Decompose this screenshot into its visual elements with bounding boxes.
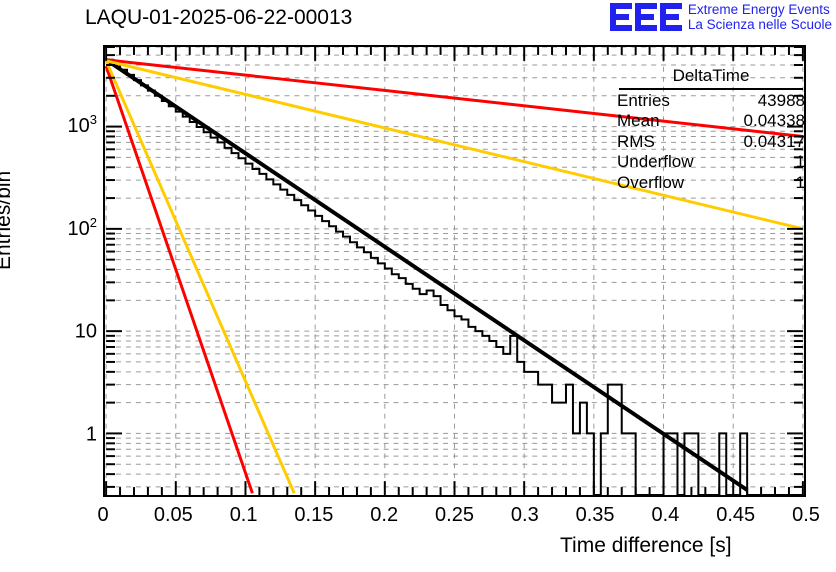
x-axis-title: Time difference [s] <box>560 534 732 558</box>
y-tick-label: 1 <box>41 423 97 446</box>
x-tick-label: 0.25 <box>435 504 474 527</box>
stats-row-key: RMS <box>617 132 655 153</box>
stats-row: Overflow1 <box>615 173 807 194</box>
stats-row: Mean0.04338 <box>615 111 807 132</box>
stats-row-key: Entries <box>617 91 670 112</box>
stats-row-key: Mean <box>617 111 660 132</box>
x-tick-label: 0.5 <box>792 504 820 527</box>
y-tick-label: 10 <box>41 320 97 343</box>
stats-rows: Entries43988Mean0.04338RMS0.04317Underfl… <box>615 91 807 194</box>
stats-row-value: 0.04338 <box>744 111 805 132</box>
stats-title: DeltaTime <box>615 66 807 88</box>
logo-text-line1: Extreme Energy Events <box>688 2 832 17</box>
stats-row-key: Overflow <box>617 173 684 194</box>
logo-letter-e-2 <box>635 3 657 31</box>
stats-row: Underflow1 <box>615 152 807 173</box>
stats-row: Entries43988 <box>615 91 807 112</box>
stats-row-value: 0.04317 <box>744 132 805 153</box>
x-tick-label: 0.15 <box>294 504 333 527</box>
logo-text-line2: La Scienza nelle Scuole <box>688 17 832 32</box>
statistics-box: DeltaTime Entries43988Mean0.04338RMS0.04… <box>615 66 807 193</box>
chart-canvas: LAQU-01-2025-06-22-00013 Extreme Energy … <box>0 0 836 572</box>
stats-row-value: 1 <box>796 173 805 194</box>
x-tick-label: 0.35 <box>576 504 615 527</box>
eee-logo-mark <box>610 3 682 31</box>
y-tick-label: 102 <box>41 216 97 242</box>
stats-divider <box>619 88 803 90</box>
x-tick-label: 0 <box>97 504 108 527</box>
stats-row-value: 43988 <box>758 91 805 112</box>
eee-logo: Extreme Energy Events La Scienza nelle S… <box>610 2 832 32</box>
y-tick-label: 103 <box>41 112 97 138</box>
x-tick-label: 0.05 <box>154 504 193 527</box>
logo-text: Extreme Energy Events La Scienza nelle S… <box>688 2 832 32</box>
x-tick-label: 0.4 <box>651 504 679 527</box>
logo-letter-e-1 <box>610 3 632 31</box>
page-title: LAQU-01-2025-06-22-00013 <box>85 6 352 30</box>
x-tick-label: 0.45 <box>716 504 755 527</box>
x-tick-label: 0.1 <box>230 504 258 527</box>
stats-row-value: 1 <box>796 152 805 173</box>
x-tick-label: 0.2 <box>370 504 398 527</box>
x-tick-label: 0.3 <box>511 504 539 527</box>
stats-row: RMS0.04317 <box>615 132 807 153</box>
logo-letter-e-3 <box>660 3 682 31</box>
y-axis-title: Entries/bin <box>0 171 16 270</box>
stats-row-key: Underflow <box>617 152 694 173</box>
